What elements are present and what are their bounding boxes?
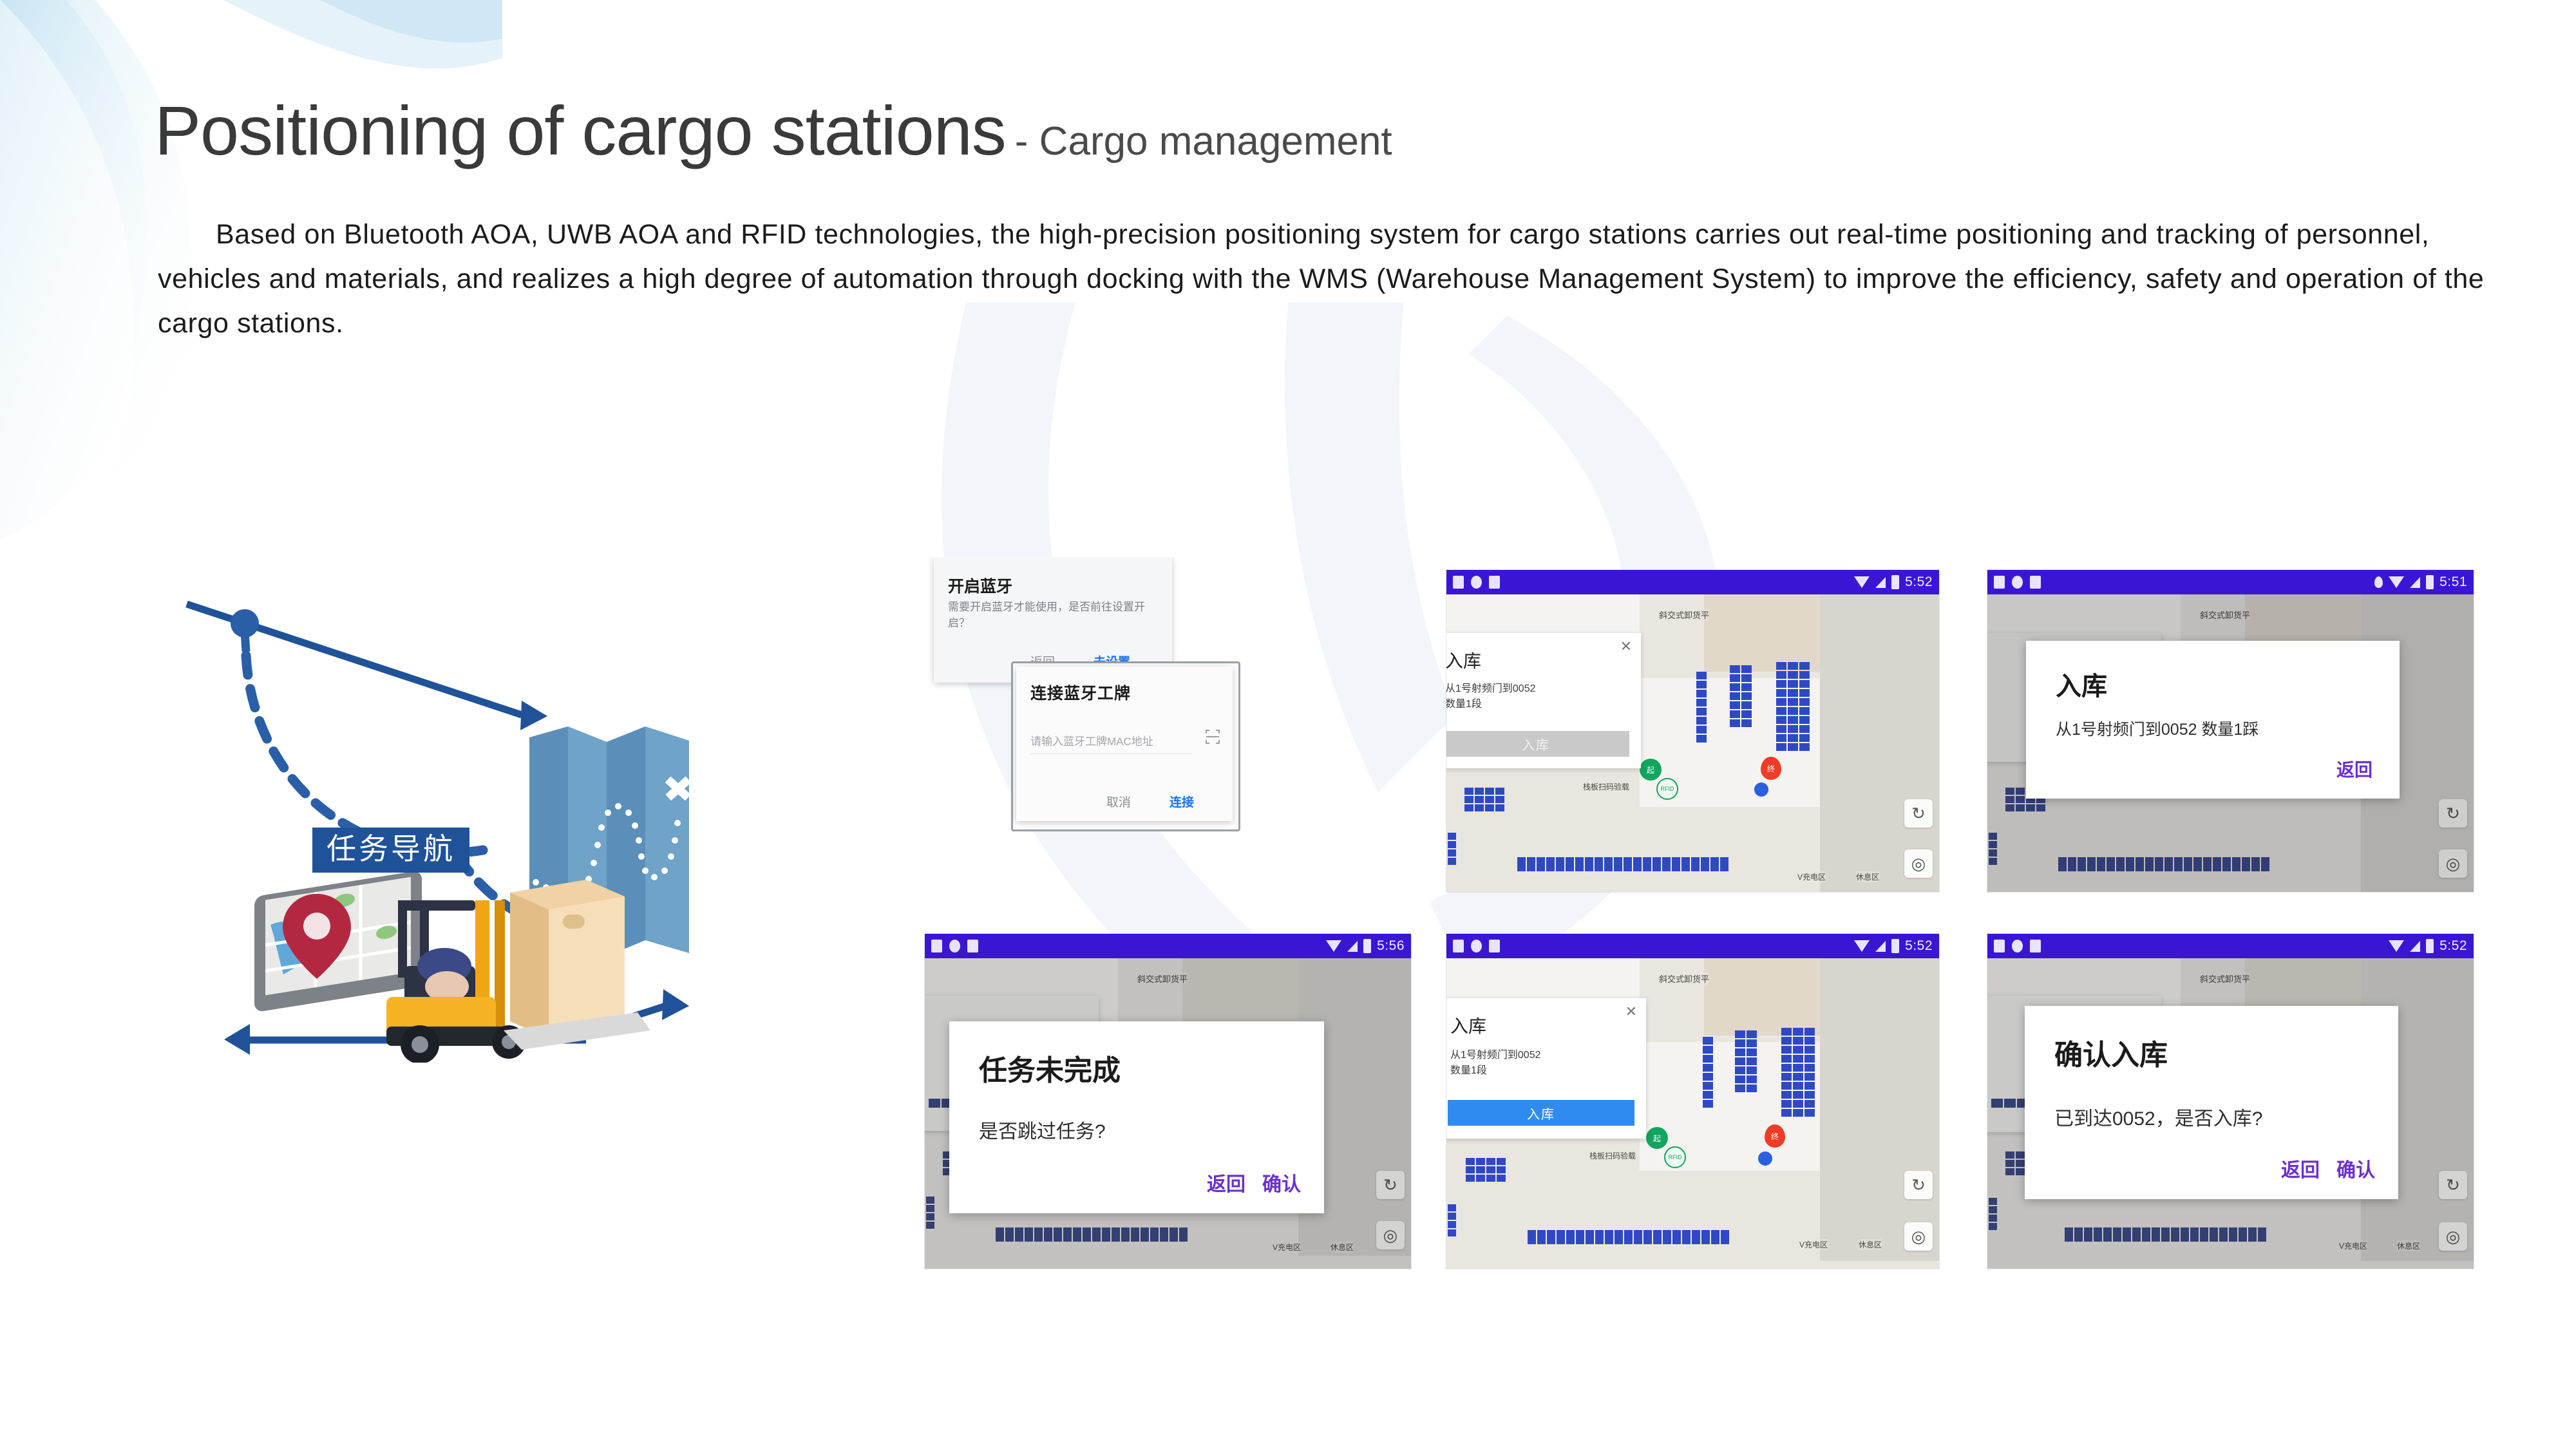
dialog-title: 任务未完成 (979, 1047, 1121, 1088)
map-label-charging-area: V充电区 (1273, 1242, 1301, 1253)
refresh-icon[interactable]: ↻ (1904, 799, 1933, 828)
map-label-rest-area: 休息区 (1331, 1242, 1354, 1253)
panel-task-incomplete-dialog: 5:56 斜交式卸货平 V充电区 休息区 ↻ ◎ (925, 934, 1411, 1269)
dialog-back-button[interactable]: 返回 (1207, 1168, 1245, 1197)
dialog-confirm-button[interactable]: 确认 (2336, 1154, 2375, 1182)
tablet-map-icon (254, 870, 422, 1019)
sync-icon (2012, 576, 2023, 589)
sim-icon (1489, 576, 1500, 589)
inbound-card-line1: 从1号射频门到0052 (1450, 1048, 1541, 1063)
title-subtitle-text: - Cargo management (1015, 119, 1392, 164)
locate-icon[interactable]: ◎ (2439, 849, 2467, 878)
panel-bluetooth-pairing: 开启蓝牙 需要开启蓝牙才能使用，是否前往设置开启？ 返回 去设置 连接蓝牙工牌 … (921, 557, 1320, 892)
scan-qr-icon[interactable] (1204, 728, 1221, 750)
inbound-card-title: 入库 (1446, 647, 1481, 673)
signal-icon (1347, 941, 1358, 952)
status-time: 5:52 (2439, 938, 2467, 954)
dialog-back-button[interactable]: 返回 (2336, 756, 2372, 782)
map-area-title: 斜交式卸货平 (2200, 609, 2250, 621)
battery-icon (1891, 575, 1899, 589)
confirm-inbound-dialog: 确认入库 已到达0052，是否入库? 返回 确认 (2025, 1006, 2398, 1199)
marker-start[interactable]: 起 (1640, 759, 1662, 781)
map-label-charging-area: V充电区 (2339, 1240, 2367, 1251)
bluetooth-enable-title: 开启蓝牙 (948, 574, 1012, 597)
map-label-rest-area: 休息区 (2397, 1240, 2420, 1251)
slide-canvas: Positioning of cargo stations- Cargo man… (0, 0, 2576, 1449)
status-bar: 5:52 (1987, 934, 2474, 958)
locate-icon[interactable]: ◎ (1376, 1221, 1405, 1249)
bluetooth-mac-input[interactable]: 请输入蓝牙工牌MAC地址 (1030, 732, 1191, 754)
inbound-info-dialog: 入库 从1号射频门到0052 数量1踩 返回 (2026, 641, 2400, 799)
wifi-icon (2389, 940, 2404, 952)
battery-icon (1363, 939, 1371, 953)
dialog-title: 入库 (2056, 665, 2107, 703)
marker-current-position[interactable] (1758, 1151, 1772, 1166)
wifi-icon (1326, 940, 1341, 952)
bluetooth-connect-sheet: 连接蓝牙工牌 请输入蓝牙工牌MAC地址 取消 连接 (1016, 667, 1233, 821)
locate-icon[interactable]: ◎ (2439, 1222, 2467, 1251)
status-time: 5:51 (2439, 574, 2467, 590)
refresh-icon[interactable]: ↻ (2439, 799, 2467, 828)
notification-icon (1453, 576, 1464, 589)
body-paragraph: Based on Bluetooth AOA, UWB AOA and RFID… (158, 213, 2495, 345)
map-area-title: 斜交式卸货平 (2200, 972, 2250, 985)
inbound-card-action-button[interactable]: 入库 (1448, 1100, 1634, 1126)
forklift-icon (386, 880, 650, 1063)
map-area-title: 斜交式卸货平 (1659, 972, 1709, 985)
wifi-icon (1854, 940, 1870, 952)
inbound-card-line2: 数量1段 (1446, 697, 1482, 712)
signal-icon (2410, 577, 2420, 588)
bluetooth-connect-cancel-button[interactable]: 取消 (1106, 793, 1131, 810)
map-label-pallet-scan: 栈板扫码验载 (1589, 1150, 1636, 1161)
sync-icon (2012, 940, 2023, 952)
inbound-card[interactable]: ✕ 入库 从1号射频门到0052 数量1段 入库 (1446, 633, 1641, 768)
notification-icon (1994, 576, 2005, 589)
notification-icon (1994, 940, 2005, 952)
map-area-title: 斜交式卸货平 (1659, 609, 1709, 621)
sim-icon (967, 940, 978, 952)
sync-icon (1471, 940, 1482, 952)
warehouse-map[interactable]: 斜交式卸货平 起 RFID 终 (1446, 958, 1939, 1269)
inbound-card-line1: 从1号射频门到0052 (1446, 682, 1536, 696)
marker-rfid-tag[interactable]: RFID (1664, 1146, 1686, 1168)
dashed-route-path (246, 656, 483, 853)
battery-icon (2426, 575, 2434, 589)
close-icon[interactable]: ✕ (1620, 638, 1632, 655)
illustration-graphic (174, 580, 741, 1063)
map-label-rest-area: 休息区 (1856, 871, 1879, 882)
signal-icon (2410, 941, 2420, 952)
wifi-icon (1854, 576, 1870, 588)
close-icon[interactable]: ✕ (1625, 1003, 1637, 1020)
navigation-illustration: 任务导航 (174, 580, 741, 1063)
map-label-charging-area: V充电区 (1799, 1239, 1828, 1250)
dialog-message: 是否跳过任务? (979, 1115, 1106, 1144)
status-bar: 5:52 (1446, 570, 1939, 594)
panel-map-inbound-card: 5:52 斜交式卸货平 (1446, 570, 1939, 892)
inbound-card-title: 入库 (1450, 1012, 1486, 1038)
wifi-icon (2389, 576, 2404, 588)
dialog-title: 确认入库 (2054, 1032, 2168, 1073)
status-bar: 5:52 (1446, 934, 1939, 958)
title-main-text: Positioning of cargo stations (155, 91, 1006, 169)
dialog-confirm-button[interactable]: 确认 (1262, 1168, 1301, 1197)
dialog-back-button[interactable]: 返回 (2281, 1154, 2320, 1182)
signal-icon (1875, 577, 1886, 588)
task-incomplete-dialog: 任务未完成 是否跳过任务? 返回 确认 (949, 1021, 1324, 1213)
map-label-rest-area: 休息区 (1859, 1239, 1882, 1250)
map-label-pallet-scan: 栈板扫码验载 (1583, 781, 1629, 792)
refresh-icon[interactable]: ↻ (1904, 1171, 1933, 1199)
marker-end[interactable]: 终 (1765, 1124, 1785, 1148)
status-bar: 5:56 (925, 934, 1411, 958)
arrow-head-left-bottom (224, 1024, 250, 1055)
sync-icon (949, 940, 960, 952)
arrow-head-right-bottom (662, 989, 689, 1020)
status-time: 5:52 (1905, 938, 1933, 954)
refresh-icon[interactable]: ↻ (1376, 1171, 1405, 1199)
status-time: 5:52 (1905, 574, 1933, 590)
inbound-card-line2: 数量1段 (1450, 1064, 1487, 1078)
battery-icon (2426, 939, 2434, 953)
inbound-card-action-button[interactable]: 入库 (1446, 731, 1629, 757)
bluetooth-enable-message: 需要开启蓝牙才能使用，是否前往设置开启？ (948, 600, 1153, 631)
panel-confirm-inbound-dialog: 5:52 斜交式卸货平 V充电区 休息区 ↻ ◎ (1987, 934, 2474, 1269)
location-icon (2374, 576, 2383, 588)
marker-current-position[interactable] (1754, 782, 1768, 797)
dialog-message: 已到达0052，是否入库? (2054, 1103, 2262, 1131)
arrow-head-right-top (520, 701, 547, 730)
panel-map-inbound-card-active: 5:52 斜交式卸货平 (1446, 934, 1939, 1269)
battery-icon (1891, 939, 1899, 953)
warehouse-map[interactable]: 斜交式卸货平 起 RFID 终 (1446, 594, 1939, 892)
bluetooth-connect-confirm-button[interactable]: 连接 (1170, 793, 1194, 810)
panel-inbound-info-dialog: 5:51 斜交式卸货平 ↻ ◎ 入库 从1号射频门到0052 数量1踩 (1987, 570, 2474, 892)
notification-icon (1453, 940, 1464, 952)
locate-icon[interactable]: ◎ (1904, 1222, 1933, 1251)
map-area-title: 斜交式卸货平 (1137, 972, 1188, 985)
map-label-charging-area: V充电区 (1797, 871, 1826, 882)
marker-rfid-tag[interactable]: RFID (1656, 778, 1678, 800)
refresh-icon[interactable]: ↻ (2439, 1171, 2467, 1199)
status-time: 5:56 (1377, 938, 1405, 954)
sim-icon (2030, 576, 2041, 589)
sim-icon (1489, 940, 1500, 952)
sim-icon (2030, 940, 2041, 952)
marker-end[interactable]: 终 (1761, 757, 1781, 780)
bluetooth-connect-title: 连接蓝牙工牌 (1030, 681, 1131, 704)
sync-icon (1471, 576, 1482, 589)
marker-start[interactable]: 起 (1646, 1127, 1668, 1149)
signal-icon (1875, 941, 1886, 952)
page-title: Positioning of cargo stations- Cargo man… (155, 90, 1392, 171)
dialog-message: 从1号射频门到0052 数量1踩 (2056, 717, 2259, 740)
notification-icon (931, 940, 942, 952)
locate-icon[interactable]: ◎ (1904, 849, 1933, 878)
status-bar: 5:51 (1987, 570, 2474, 594)
task-navigation-badge: 任务导航 (312, 828, 469, 873)
inbound-card[interactable]: ✕ 入库 从1号射频门到0052 数量1段 入库 (1446, 998, 1646, 1139)
